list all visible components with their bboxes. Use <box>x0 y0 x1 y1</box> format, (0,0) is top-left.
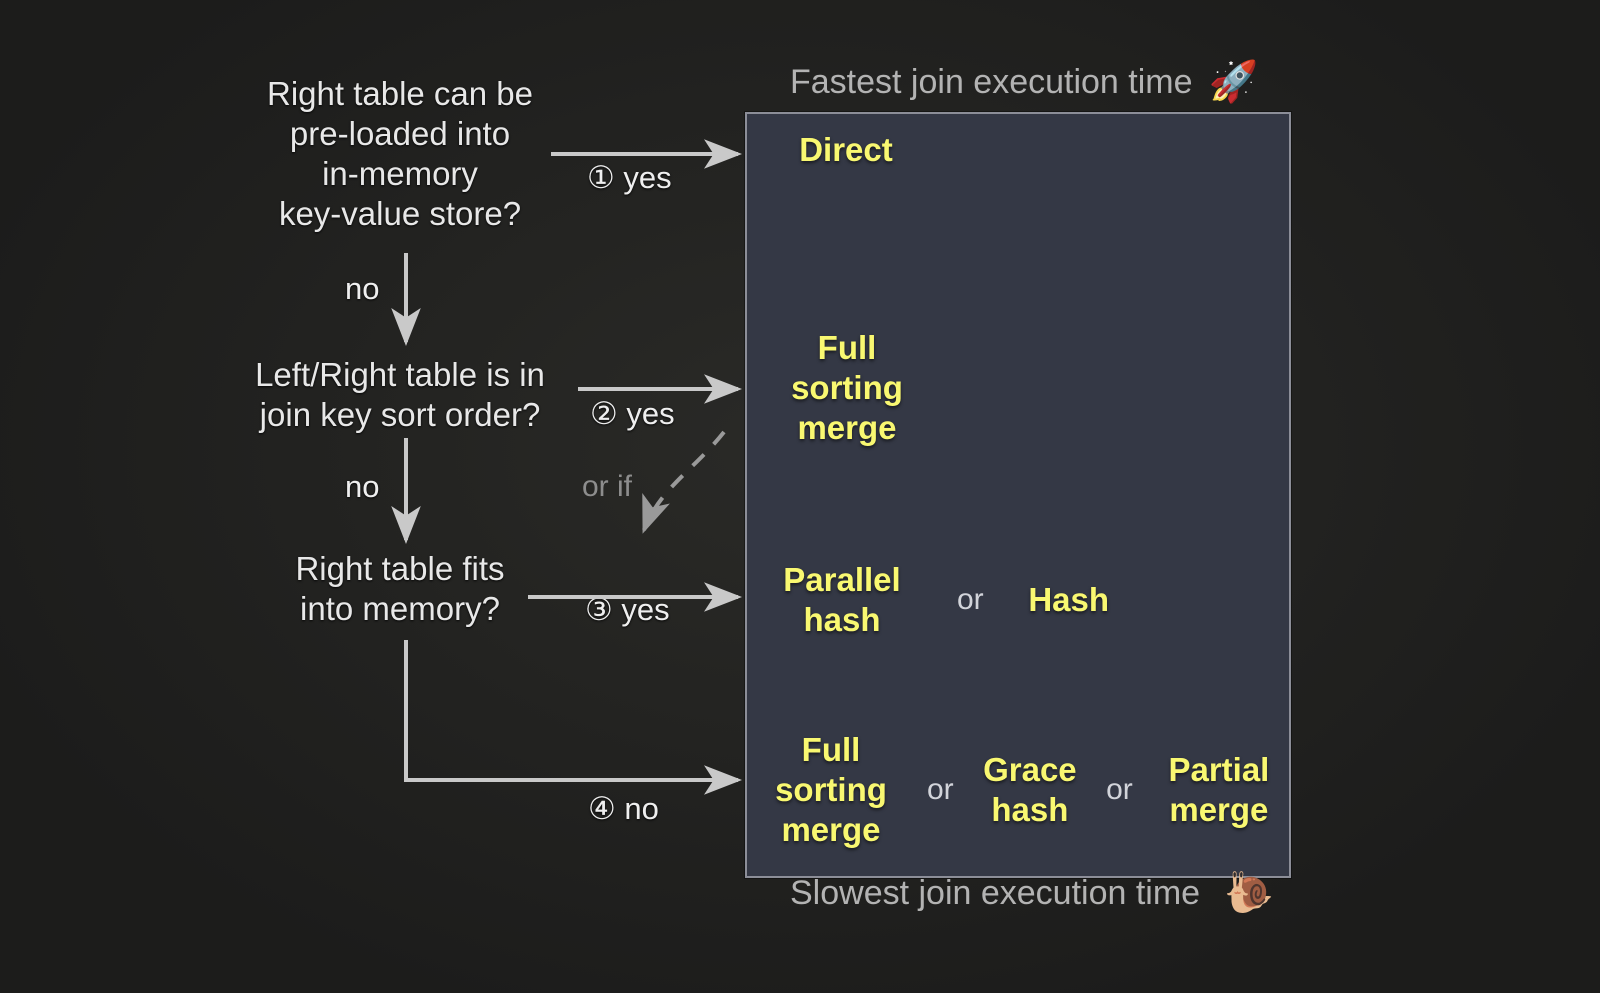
fastest-caption-label: Fastest join execution time <box>790 63 1193 102</box>
arrow-no-3 <box>406 640 738 780</box>
edge-label-yes-2: ② yes <box>590 396 675 432</box>
algo-direct: Direct <box>746 130 946 170</box>
algo-full-sorting-merge-1: Full sorting merge <box>747 328 947 448</box>
rocket-emoji: 🚀 <box>1209 62 1259 102</box>
algo-partial-merge: Partial merge <box>1145 750 1293 830</box>
snail-emoji: 🐌 <box>1224 873 1274 913</box>
result-row-2: Full sorting merge <box>747 328 1293 448</box>
question-sort-order: Left/Right table is in join key sort ord… <box>190 355 610 435</box>
diagram-canvas: Fastest join execution time 🚀 Direct Ful… <box>0 0 1600 993</box>
algo-grace-hash: Grace hash <box>966 750 1094 830</box>
question-fits-memory: Right table fits into memory? <box>210 549 590 629</box>
results-box: Direct Full sorting merge Parallel hash … <box>745 112 1291 878</box>
edge-label-yes-1: ① yes <box>587 160 672 196</box>
result-row-3: Parallel hash or Hash <box>747 560 1293 640</box>
result-row-1: Direct <box>747 130 1293 170</box>
question-kv-store: Right table can be pre-loaded into in-me… <box>210 74 590 234</box>
edge-label-no-1: no <box>345 271 379 307</box>
result-row-3-separator: or <box>937 583 1004 617</box>
arrow-alt-path-dashed <box>644 432 724 530</box>
fastest-caption: Fastest join execution time 🚀 <box>790 62 1258 102</box>
edge-label-no-3: ④ no <box>588 791 659 827</box>
slowest-caption: Slowest join execution time 🐌 <box>790 873 1274 913</box>
algo-full-sorting-merge-2: Full sorting merge <box>747 730 915 850</box>
edge-label-no-2: no <box>345 469 379 505</box>
result-row-4: Full sorting merge or Grace hash or Part… <box>747 730 1293 850</box>
slowest-caption-label: Slowest join execution time <box>790 874 1200 913</box>
algo-hash: Hash <box>1004 580 1134 620</box>
edge-label-yes-3: ③ yes <box>585 592 670 628</box>
result-row-4-separator-2: or <box>1094 773 1145 807</box>
result-row-4-separator-1: or <box>915 773 966 807</box>
algo-parallel-hash: Parallel hash <box>747 560 937 640</box>
alt-path-label: or if <box>582 470 632 504</box>
